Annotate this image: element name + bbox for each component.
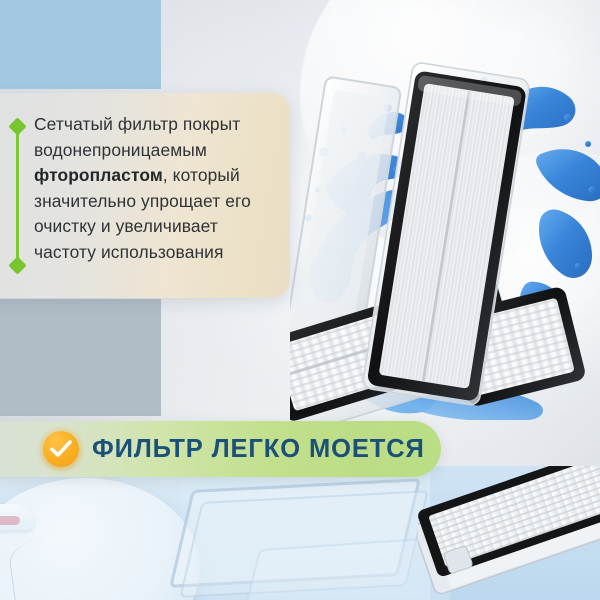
robot-accent-stripe: [0, 516, 20, 525]
hepa-filter-cartridge-icon: [418, 466, 600, 600]
feature-description-part-1: Сетчатый фильтр покрыт водонепроницаемым: [34, 114, 240, 160]
check-circle-icon: [43, 431, 79, 467]
feature-description: Сетчатый фильтр покрыт водонепроницаемым…: [34, 112, 282, 266]
color-block-left: [0, 299, 161, 416]
color-block-top-left: [0, 0, 161, 89]
accent-line: [16, 128, 19, 268]
promo-banner: Сетчатый фильтр покрыт водонепроницаемым…: [0, 0, 600, 600]
bottom-photo-strip: [0, 466, 600, 600]
feature-description-highlight: фторопластом: [34, 165, 163, 185]
banner-label: ФИЛЬТР ЛЕГКО МОЕТСЯ: [92, 431, 425, 467]
